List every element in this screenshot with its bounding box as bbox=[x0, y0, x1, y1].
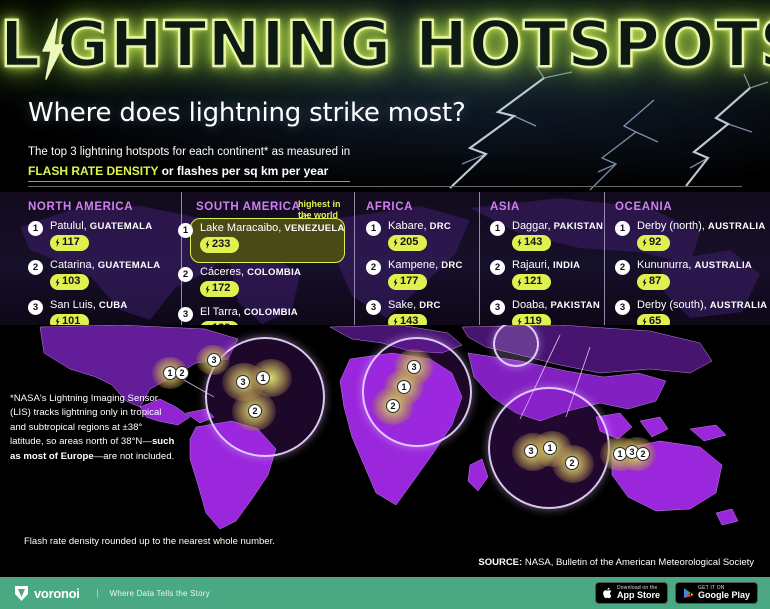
country-label: GUATEMALA bbox=[98, 260, 161, 271]
list-item-highlighted: 1 Lake Maracaibo, VENEZUELA 233 bbox=[196, 222, 352, 254]
app-store-big: App Store bbox=[617, 591, 660, 600]
value-pill: 177 bbox=[388, 274, 427, 290]
bolt-icon bbox=[55, 238, 60, 247]
list-item: 3 Doaba, PAKISTAN 119 bbox=[490, 299, 602, 325]
rank-badge: 2 bbox=[366, 260, 381, 275]
map-marker-3: 3 bbox=[524, 444, 538, 458]
header-section: LGHTNING HOTSPOTS Where does lightning s… bbox=[0, 0, 770, 192]
footnote-part-c: —are not included. bbox=[94, 451, 175, 462]
source-text: NASA, Bulletin of the American Meteorolo… bbox=[522, 557, 754, 568]
bolt-icon bbox=[393, 278, 398, 287]
value-pill: 103 bbox=[50, 274, 89, 290]
map-marker-2: 2 bbox=[386, 399, 400, 413]
place-label: Daggar, PAKISTAN bbox=[512, 220, 602, 232]
bolt-icon bbox=[205, 285, 210, 294]
google-play-text: GET IT ON Google Play bbox=[698, 586, 750, 601]
bolt-icon bbox=[393, 238, 398, 247]
list-item: 2 Rajauri, INDIA 121 bbox=[490, 259, 602, 291]
value-text: 177 bbox=[400, 275, 418, 289]
bolt-icon bbox=[517, 317, 522, 325]
panel-divider-2 bbox=[354, 192, 355, 325]
value-pill: 172 bbox=[200, 281, 239, 297]
country-label: AUSTRALIA bbox=[694, 260, 752, 271]
column-header: NORTH AMERICA bbox=[28, 201, 178, 213]
apple-icon bbox=[603, 587, 613, 599]
rank-badge: 2 bbox=[28, 260, 43, 275]
country-label: DRC bbox=[441, 260, 462, 271]
place-label: Catarina, GUATEMALA bbox=[50, 259, 178, 271]
map-marker-2: 2 bbox=[565, 456, 579, 470]
list-item: 3 El Tarra, COLOMBIA 139 bbox=[196, 306, 352, 325]
country-label: PAKISTAN bbox=[551, 300, 601, 311]
map-marker-2: 2 bbox=[175, 366, 189, 380]
column-south-america: SOUTH AMERICA highest inthe world 1 Lake… bbox=[196, 201, 352, 325]
value-text: 205 bbox=[400, 236, 418, 250]
place-label: Derby (south), AUSTRALIA bbox=[637, 299, 765, 311]
lede-line-1: The top 3 lightning hotspots for each co… bbox=[28, 146, 350, 158]
source-label: SOURCE: bbox=[478, 557, 522, 568]
bolt-icon bbox=[642, 238, 647, 247]
place-label: Kampene, DRC bbox=[388, 259, 476, 271]
rank-badge: 1 bbox=[178, 223, 193, 238]
brand-name: voronoi bbox=[34, 586, 80, 601]
list-item: 2 Kampene, DRC 177 bbox=[366, 259, 476, 291]
column-oceania: OCEANIA 1 Derby (north), AUSTRALIA 92 2 … bbox=[615, 201, 765, 325]
panel-divider-4 bbox=[604, 192, 605, 325]
value-text: 117 bbox=[62, 236, 80, 250]
column-header: ASIA bbox=[490, 201, 602, 213]
bolt-icon bbox=[55, 278, 60, 287]
list-item: 2 Catarina, GUATEMALA 103 bbox=[28, 259, 178, 291]
value-pill: 119 bbox=[512, 314, 551, 325]
app-store-badge[interactable]: Download on the App Store bbox=[595, 582, 668, 605]
column-north-america: NORTH AMERICA 1 Patulul, GUATEMALA 117 2… bbox=[28, 201, 178, 325]
bolt-icon bbox=[55, 317, 60, 325]
google-play-badge[interactable]: GET IT ON Google Play bbox=[675, 582, 758, 605]
rank-badge: 3 bbox=[615, 300, 630, 315]
list-item: 2 Cáceres, COLOMBIA 172 bbox=[196, 266, 352, 298]
value-text: 101 bbox=[62, 315, 80, 325]
map-marker-2: 2 bbox=[248, 404, 262, 418]
country-label: AUSTRALIA bbox=[710, 300, 768, 311]
panel-divider-3 bbox=[479, 192, 480, 325]
place-label: El Tarra, COLOMBIA bbox=[200, 306, 352, 318]
country-label: AUSTRALIA bbox=[708, 221, 766, 232]
value-text: 233 bbox=[212, 238, 230, 252]
app-store-text: Download on the App Store bbox=[617, 586, 660, 601]
google-play-icon bbox=[683, 587, 694, 599]
value-pill: 87 bbox=[637, 274, 670, 290]
country-label: DRC bbox=[430, 221, 451, 232]
value-pill: 205 bbox=[388, 235, 427, 251]
rank-badge: 3 bbox=[490, 300, 505, 315]
store-badges: Download on the App Store GET IT ON Goog… bbox=[595, 582, 758, 605]
page-title-pre: L bbox=[0, 8, 41, 81]
map-marker-1: 1 bbox=[397, 380, 411, 394]
list-item: 3 Derby (south), AUSTRALIA 65 bbox=[615, 299, 765, 325]
map-marker-1: 1 bbox=[543, 441, 557, 455]
country-label: DRC bbox=[419, 300, 440, 311]
place-label: Rajauri, INDIA bbox=[512, 259, 602, 271]
country-label: VENEZUELA bbox=[284, 223, 344, 234]
infographic-root: LGHTNING HOTSPOTS Where does lightning s… bbox=[0, 0, 770, 609]
list-item: 1 Daggar, PAKISTAN 143 bbox=[490, 220, 602, 252]
value-pill: 92 bbox=[637, 235, 670, 251]
value-pill: 121 bbox=[512, 274, 551, 290]
map-marker-2: 2 bbox=[636, 447, 650, 461]
google-play-big: Google Play bbox=[698, 591, 750, 600]
value-text: 87 bbox=[649, 275, 661, 289]
list-item: 3 Sake, DRC 143 bbox=[366, 299, 476, 325]
bolt-icon bbox=[517, 278, 522, 287]
place-label: San Luis, CUBA bbox=[50, 299, 178, 311]
metric-rest: or flashes per sq km per year bbox=[158, 164, 328, 178]
rank-badge: 2 bbox=[615, 260, 630, 275]
column-africa: AFRICA 1 Kabare, DRC 205 2 Kampene, DRC … bbox=[366, 201, 476, 325]
value-pill: 143 bbox=[388, 314, 427, 325]
voronoi-logo-icon bbox=[14, 585, 29, 602]
rank-badge: 1 bbox=[490, 221, 505, 236]
value-text: 143 bbox=[524, 236, 542, 250]
column-asia: ASIA 1 Daggar, PAKISTAN 143 2 Rajauri, I… bbox=[490, 201, 602, 325]
list-item: 1 Kabare, DRC 205 bbox=[366, 220, 476, 252]
map-marker-3: 3 bbox=[207, 353, 221, 367]
country-label: INDIA bbox=[553, 260, 580, 271]
value-pill: 65 bbox=[637, 314, 670, 325]
column-header: AFRICA bbox=[366, 201, 476, 213]
value-text: 92 bbox=[649, 236, 661, 250]
value-pill: 101 bbox=[50, 314, 89, 325]
lede-line-2: FLASH RATE DENSITY or flashes per sq km … bbox=[28, 163, 350, 182]
country-label: COLOMBIA bbox=[244, 307, 298, 318]
value-pill: 117 bbox=[50, 235, 89, 251]
place-label: Cáceres, COLOMBIA bbox=[200, 266, 352, 278]
value-pill: 233 bbox=[200, 237, 239, 253]
place-label: Doaba, PAKISTAN bbox=[512, 299, 602, 311]
value-text: 119 bbox=[524, 315, 542, 325]
bolt-icon bbox=[517, 238, 522, 247]
lis-footnote: *NASA's Lightning Imaging Sensor (LIS) t… bbox=[10, 392, 178, 464]
value-text: 143 bbox=[400, 315, 418, 325]
value-text: 121 bbox=[524, 275, 542, 289]
rank-badge: 3 bbox=[28, 300, 43, 315]
footnote-part-a: *NASA's Lightning Imaging Sensor (LIS) t… bbox=[10, 393, 161, 447]
brand-block[interactable]: voronoi Where Data Tells the Story bbox=[14, 585, 210, 602]
rank-badge: 3 bbox=[366, 300, 381, 315]
bolt-icon bbox=[205, 240, 210, 249]
rank-badge: 3 bbox=[178, 307, 193, 322]
place-label: Patulul, GUATEMALA bbox=[50, 220, 178, 232]
header-divider bbox=[28, 186, 742, 187]
page-title-post: GHTNING HOTSPOTS bbox=[57, 8, 770, 81]
map-marker-3: 3 bbox=[236, 375, 250, 389]
map-marker-3: 3 bbox=[407, 360, 421, 374]
source-line: SOURCE: NASA, Bulletin of the American M… bbox=[478, 557, 754, 568]
value-text: 103 bbox=[62, 275, 80, 289]
place-label: Kununurra, AUSTRALIA bbox=[637, 259, 765, 271]
column-header: OCEANIA bbox=[615, 201, 765, 213]
page-subtitle: Where does lightning strike most? bbox=[28, 98, 466, 128]
data-panel: NORTH AMERICA 1 Patulul, GUATEMALA 117 2… bbox=[0, 192, 770, 325]
rank-badge: 1 bbox=[28, 221, 43, 236]
bolt-icon bbox=[642, 278, 647, 287]
footer-bar: voronoi Where Data Tells the Story Downl… bbox=[0, 577, 770, 609]
value-text: 65 bbox=[649, 315, 661, 325]
map-marker-1: 1 bbox=[256, 371, 270, 385]
place-label: Lake Maracaibo, VENEZUELA bbox=[200, 222, 352, 234]
list-item: 2 Kununurra, AUSTRALIA 87 bbox=[615, 259, 765, 291]
rank-badge: 2 bbox=[490, 260, 505, 275]
country-label: CUBA bbox=[99, 300, 128, 311]
country-label: GUATEMALA bbox=[90, 221, 153, 232]
page-title: LGHTNING HOTSPOTS bbox=[0, 8, 770, 81]
place-label: Kabare, DRC bbox=[388, 220, 476, 232]
brand-tagline: Where Data Tells the Story bbox=[97, 589, 210, 598]
rank-badge: 1 bbox=[615, 221, 630, 236]
panel-divider-1 bbox=[181, 192, 182, 325]
lede-text: The top 3 lightning hotspots for each co… bbox=[28, 144, 350, 182]
value-text: 172 bbox=[212, 282, 230, 296]
list-item: 3 San Luis, CUBA 101 bbox=[28, 299, 178, 325]
country-label: COLOMBIA bbox=[247, 267, 301, 278]
bolt-icon bbox=[642, 317, 647, 325]
place-label: Sake, DRC bbox=[388, 299, 476, 311]
rank-badge: 1 bbox=[366, 221, 381, 236]
bolt-icon bbox=[393, 317, 398, 325]
list-item: 1 Patulul, GUATEMALA 117 bbox=[28, 220, 178, 252]
place-label: Derby (north), AUSTRALIA bbox=[637, 220, 765, 232]
metric-name: FLASH RATE DENSITY bbox=[28, 164, 158, 178]
country-label: PAKISTAN bbox=[554, 221, 604, 232]
value-pill: 143 bbox=[512, 235, 551, 251]
list-item: 1 Derby (north), AUSTRALIA 92 bbox=[615, 220, 765, 252]
flash-rate-note: Flash rate density rounded up to the nea… bbox=[24, 536, 275, 547]
